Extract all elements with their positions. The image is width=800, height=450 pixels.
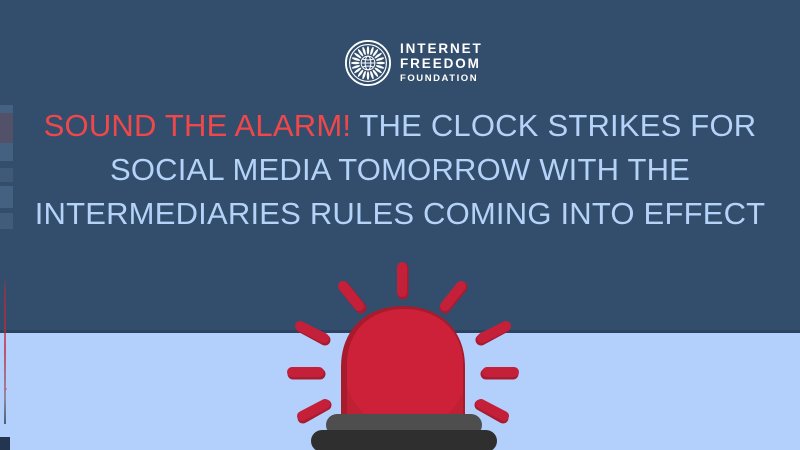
headline-line-1: SOUND THE ALARM! THE CLOCK STRIKES FOR bbox=[0, 104, 800, 148]
alarm-siren-illustration bbox=[278, 252, 528, 450]
headline: SOUND THE ALARM! THE CLOCK STRIKES FOR S… bbox=[0, 104, 800, 236]
siren-dome-icon bbox=[341, 306, 468, 430]
headline-line-3: INTERMEDIARIES RULES COMING INTO EFFECT bbox=[0, 192, 800, 236]
brand-logo-line-1: INTERNET bbox=[400, 41, 483, 57]
headline-line-2: SOCIAL MEDIA TOMORROW WITH THE bbox=[0, 148, 800, 192]
brand-logo: INTERNET FREEDOM FOUNDATION bbox=[345, 33, 485, 93]
edge-artifact-line bbox=[4, 276, 6, 424]
brand-logo-line-3: FOUNDATION bbox=[400, 72, 483, 86]
brand-logo-line-2: FREEDOM bbox=[400, 56, 483, 72]
siren-base-icon bbox=[311, 414, 497, 450]
headline-emphasis: SOUND THE ALARM! bbox=[44, 108, 352, 143]
poster-canvas: INTERNET FREEDOM FOUNDATION SOUND THE AL… bbox=[0, 0, 800, 450]
brand-logo-wordmark: INTERNET FREEDOM FOUNDATION bbox=[400, 41, 483, 86]
edge-artifact-tick bbox=[4, 388, 7, 390]
headline-line-1-rest: THE CLOCK STRIKES FOR bbox=[351, 108, 756, 143]
iff-chakra-globe-icon bbox=[345, 40, 391, 86]
edge-artifact-foot bbox=[0, 437, 10, 450]
